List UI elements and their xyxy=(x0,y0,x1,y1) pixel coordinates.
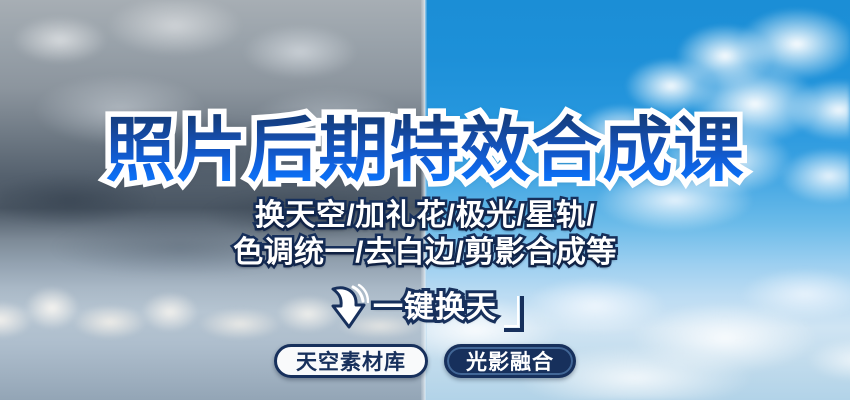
closing-bracket-icon xyxy=(501,290,527,340)
subtitle-line-1-text: 换天空/加礼花/极光/星轨/ xyxy=(255,199,595,232)
one-click-text-wrap: 一键换天 一键换天 xyxy=(373,291,497,325)
subtitle-line-2-text: 色调统一/去白边/剪影合成等 xyxy=(233,236,617,269)
subtitle-line-1: 换天空/加礼花/极光/星轨/ 换天空/加礼花/极光/星轨/ xyxy=(255,199,595,232)
main-title: 照片后期特效合成课 照片后期特效合成课 xyxy=(106,112,745,188)
one-click-callout: 一键换天 一键换天 xyxy=(323,282,527,334)
curved-down-arrow-icon xyxy=(323,283,369,333)
badge-light-shadow-blend-label: 光影融合 xyxy=(466,346,554,376)
badge-light-shadow-blend[interactable]: 光影融合 xyxy=(444,344,576,378)
one-click-text: 一键换天 xyxy=(373,291,497,324)
course-promo-banner: 照片后期特效合成课 照片后期特效合成课 换天空/加礼花/极光/星轨/ 换天空/加… xyxy=(0,0,850,400)
banner-content: 照片后期特效合成课 照片后期特效合成课 换天空/加礼花/极光/星轨/ 换天空/加… xyxy=(0,0,850,400)
feature-badges: 天空素材库 光影融合 xyxy=(274,344,576,378)
badge-sky-material-library[interactable]: 天空素材库 xyxy=(274,344,428,378)
main-title-text: 照片后期特效合成课 xyxy=(106,111,745,189)
subtitle-line-2: 色调统一/去白边/剪影合成等 色调统一/去白边/剪影合成等 xyxy=(233,236,617,269)
badge-sky-material-library-label: 天空素材库 xyxy=(296,346,406,376)
